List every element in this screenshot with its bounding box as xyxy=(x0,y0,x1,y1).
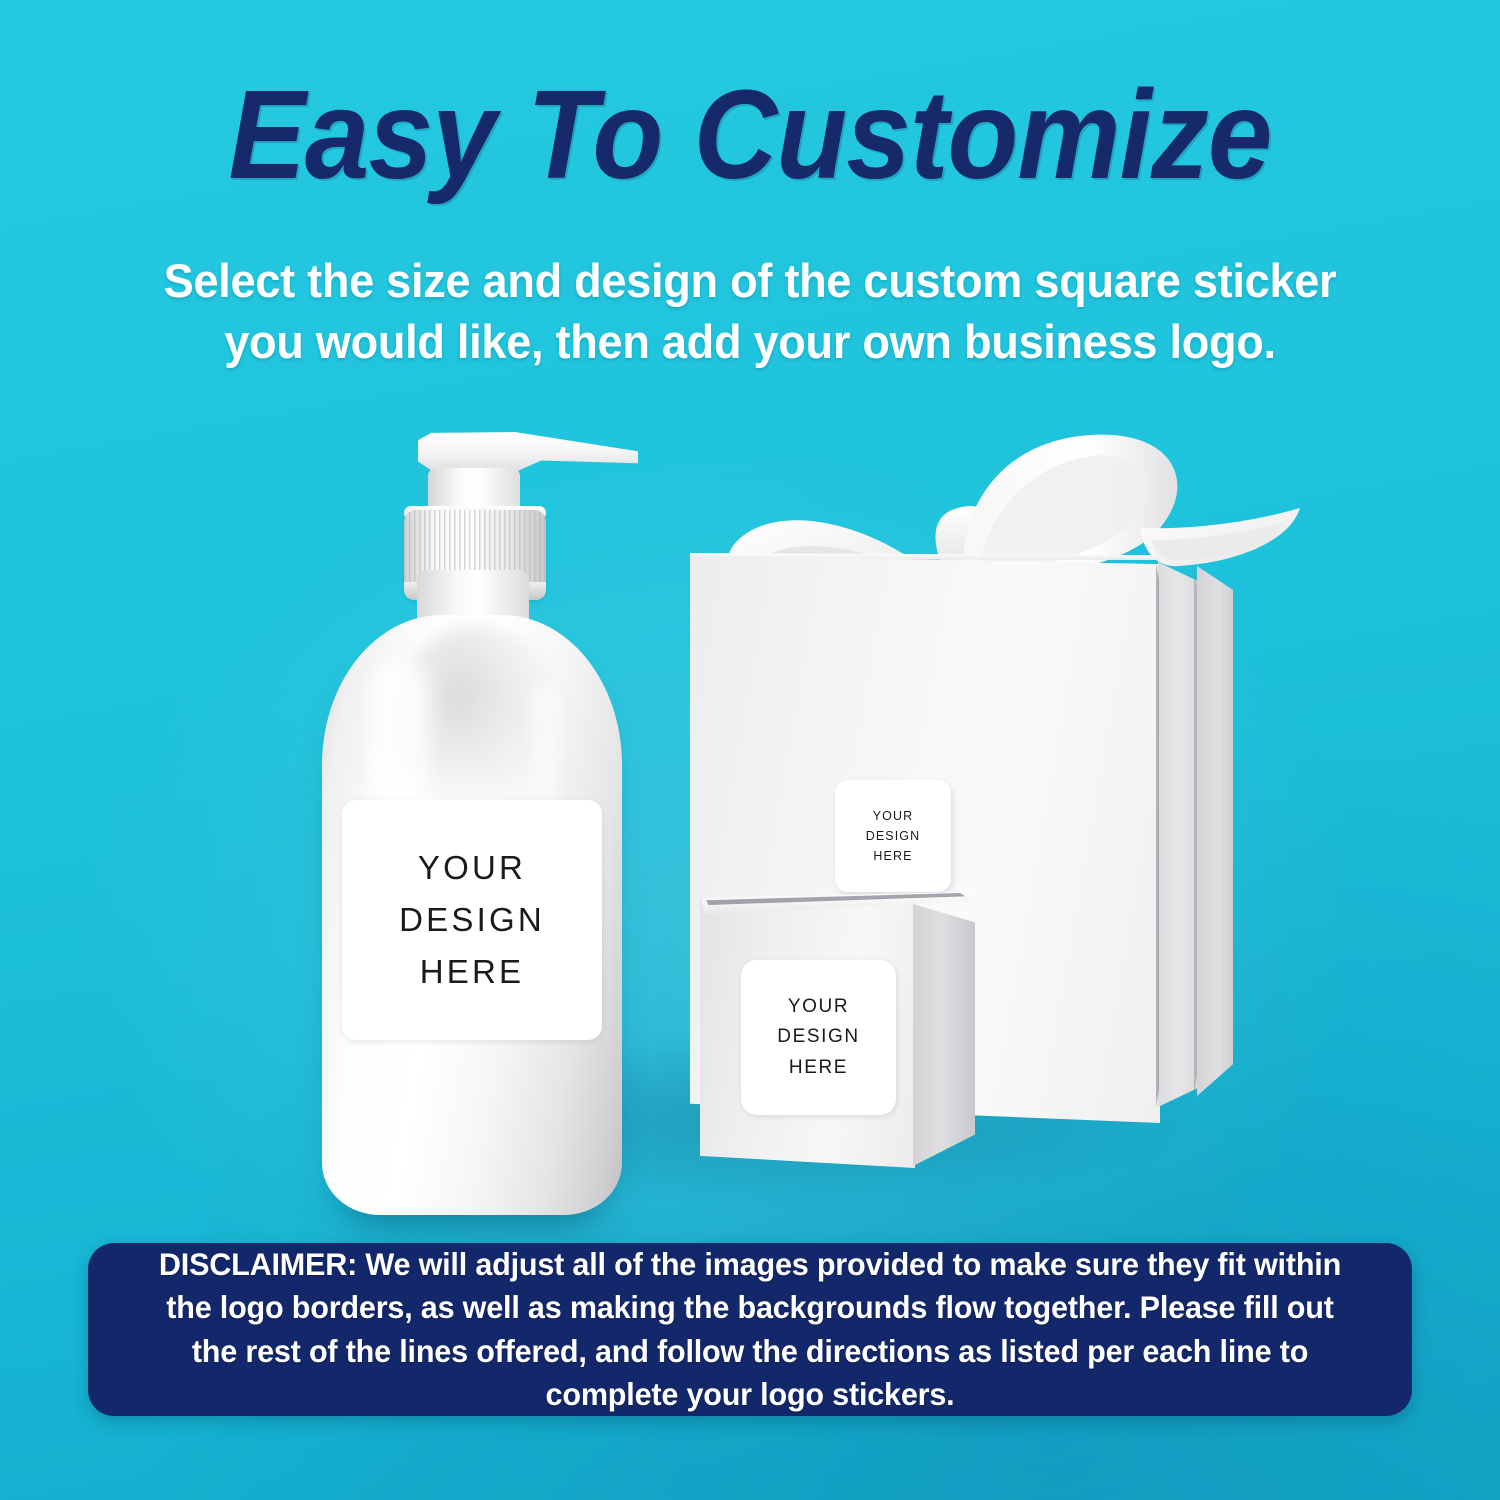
subtitle-line-2: you would like, then add your own busine… xyxy=(136,311,1365,372)
subtitle-line-1: Select the size and design of the custom… xyxy=(136,250,1365,311)
sticker-small-line-2: DESIGN xyxy=(777,1022,859,1052)
disclaimer-banner: DISCLAIMER: We will adjust all of the im… xyxy=(88,1243,1412,1416)
gift-box-seam-2 xyxy=(1194,567,1197,1096)
sticker-bottle-label[interactable]: YOUR DESIGN HERE xyxy=(342,800,602,1040)
sticker-gift-line-1: YOUR xyxy=(873,806,914,826)
sticker-gift-box[interactable]: YOUR DESIGN HERE xyxy=(835,780,951,892)
sticker-small-line-1: YOUR xyxy=(788,992,849,1022)
small-box-side-face xyxy=(913,904,975,1166)
product-mockup-scene: YOUR DESIGN HERE YOUR DESIGN HERE xyxy=(0,390,1500,1220)
sticker-gift-line-3: HERE xyxy=(873,846,912,866)
promo-banner: Easy To Customize Select the size and de… xyxy=(0,0,1500,1500)
sticker-small-line-3: HERE xyxy=(789,1053,848,1083)
page-title: Easy To Customize xyxy=(60,72,1440,198)
sticker-bottle-line-2: DESIGN xyxy=(399,894,545,946)
gift-box-seam xyxy=(1156,563,1159,1107)
pump-bottle-mockup: YOUR DESIGN HERE xyxy=(300,410,660,1230)
gift-box-side-face xyxy=(1158,562,1198,1107)
subtitle: Select the size and design of the custom… xyxy=(136,250,1365,372)
sticker-bottle-line-3: HERE xyxy=(420,946,525,998)
gift-box-side-face-2 xyxy=(1197,566,1233,1096)
sticker-small-box[interactable]: YOUR DESIGN HERE xyxy=(741,960,896,1115)
disclaimer-text: DISCLAIMER: We will adjust all of the im… xyxy=(108,1243,1392,1417)
sticker-gift-line-2: DESIGN xyxy=(866,826,921,846)
sticker-bottle-line-1: YOUR xyxy=(418,842,526,894)
small-box-mockup: YOUR DESIGN HERE xyxy=(700,890,1000,1190)
